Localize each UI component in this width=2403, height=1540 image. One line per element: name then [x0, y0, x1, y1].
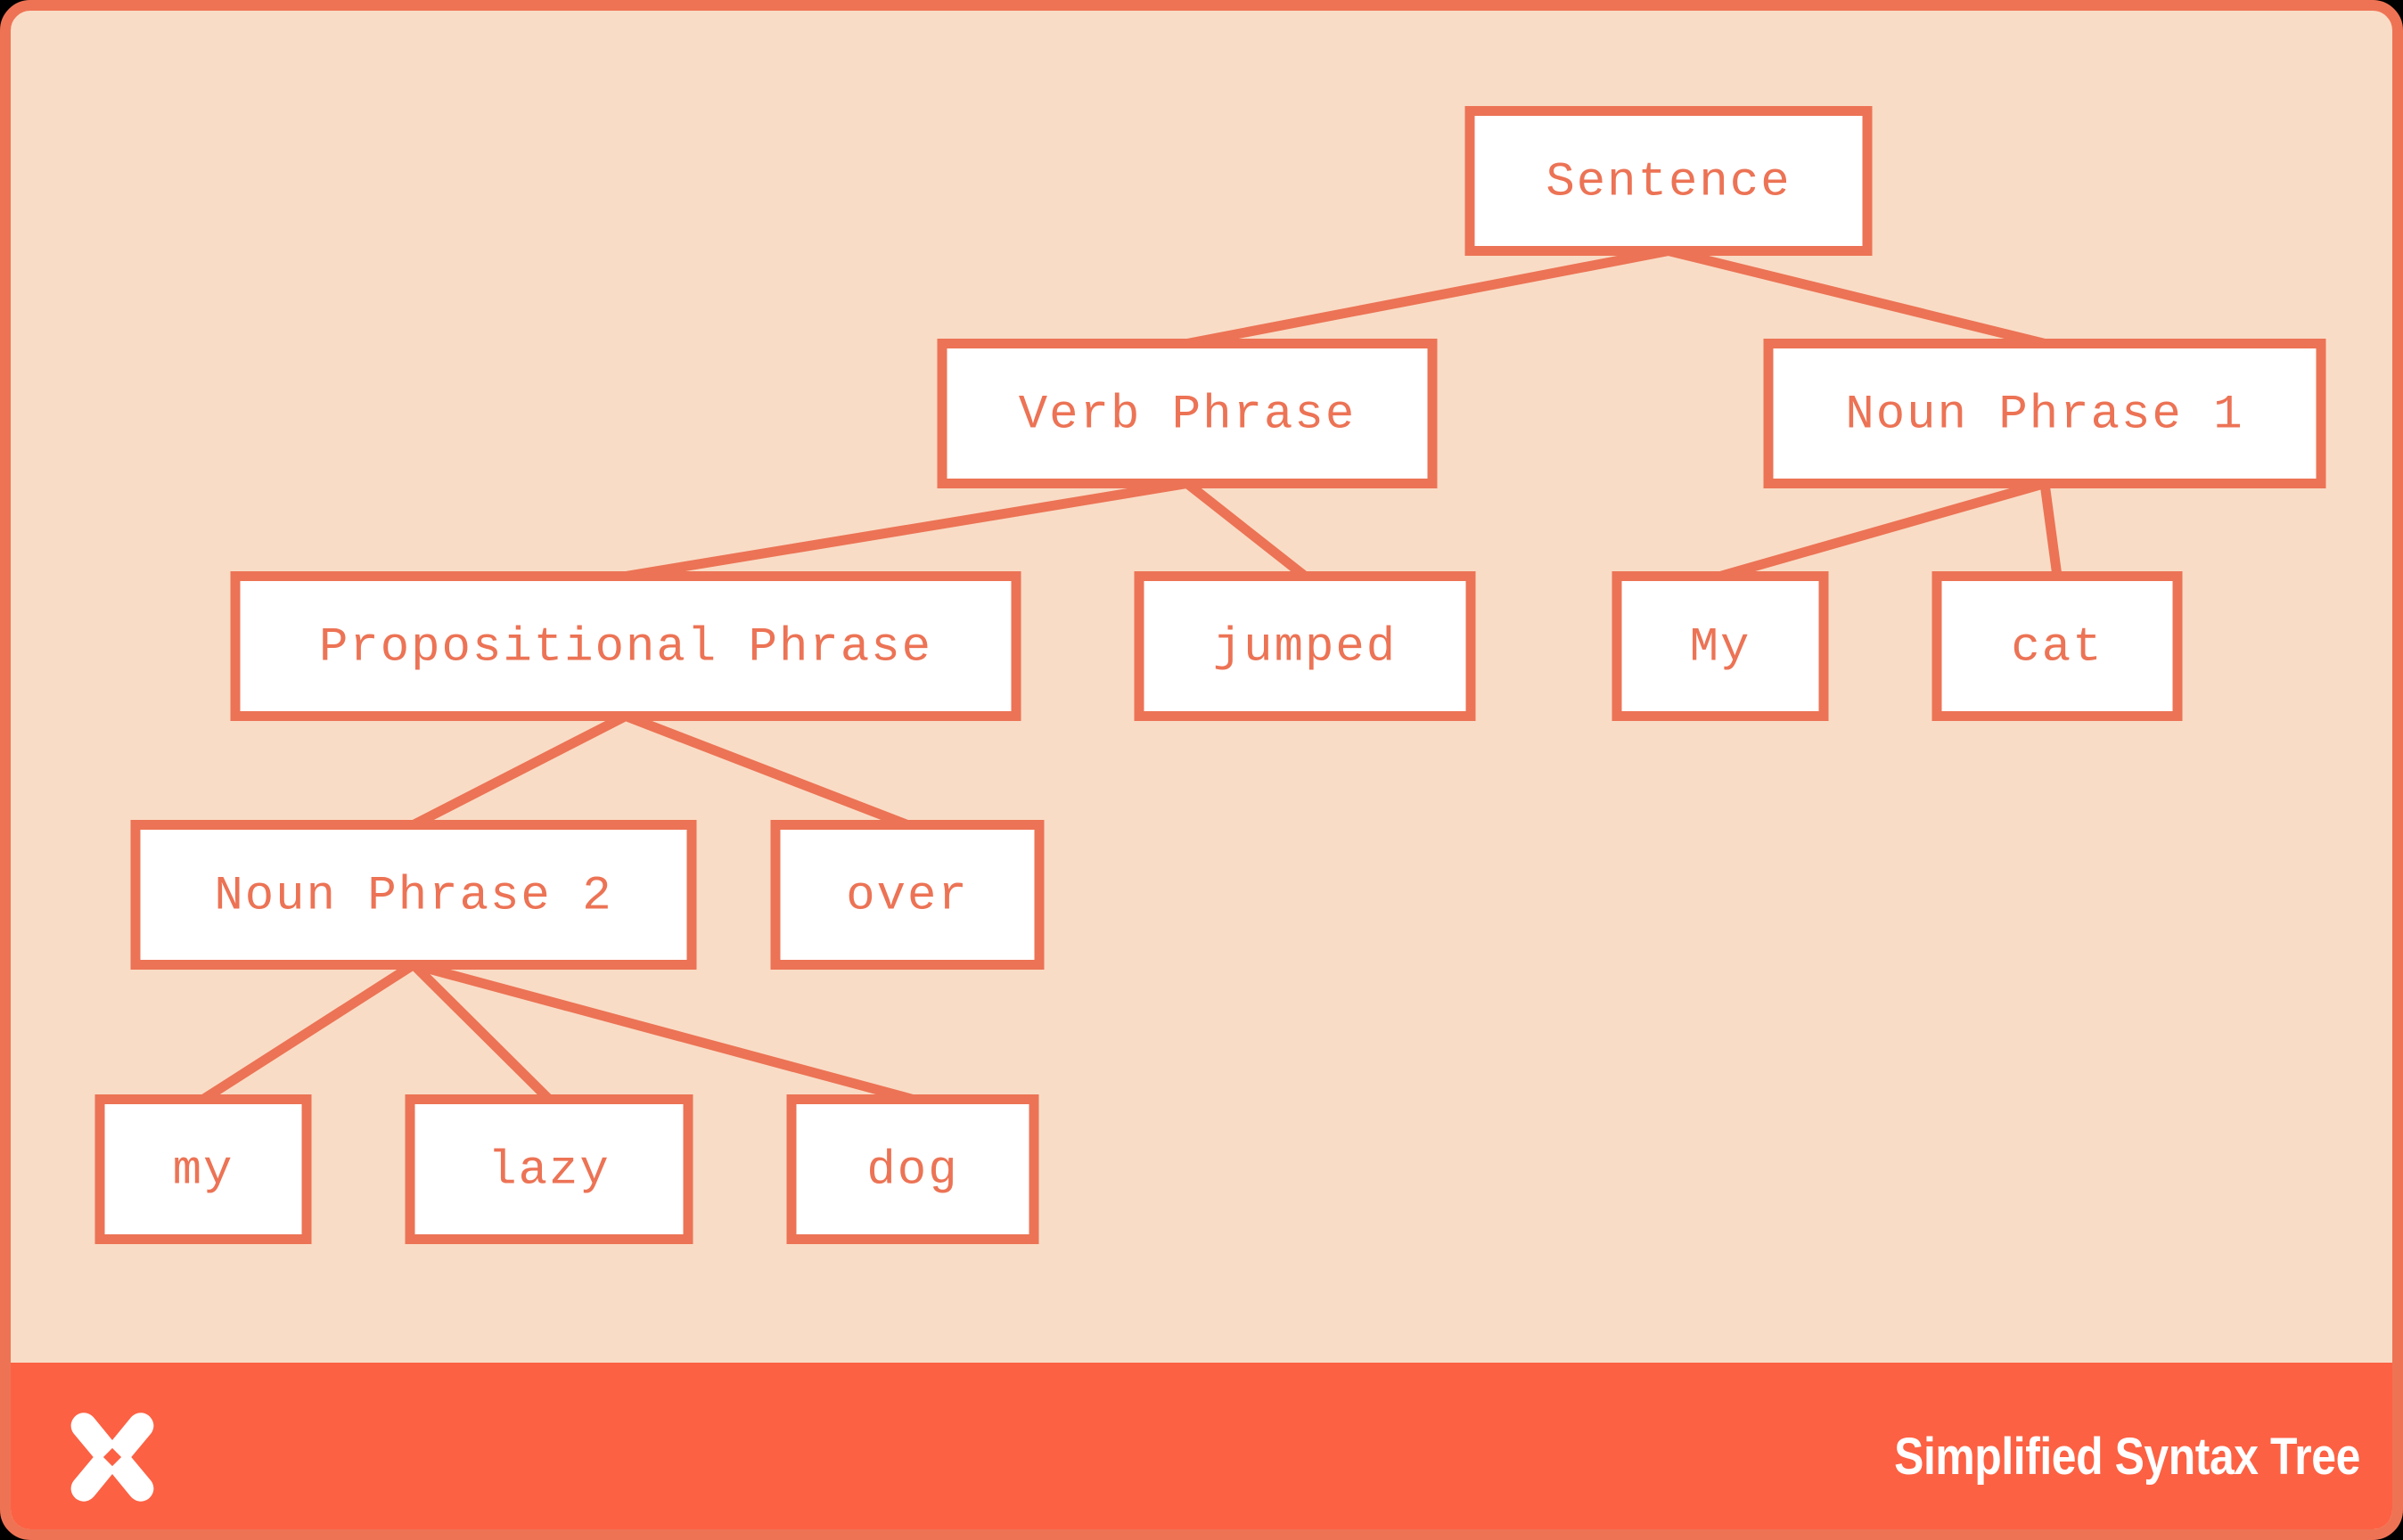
tree-edge — [1720, 484, 2045, 577]
diagram-card: SentenceVerb PhraseNoun Phrase 1Proposit… — [0, 0, 2403, 1540]
tree-node-label: Propositional Phrase — [319, 621, 932, 676]
tree-node-pp[interactable]: Propositional Phrase — [235, 577, 1016, 717]
tree-edge — [1187, 251, 1669, 344]
tree-node-label: Sentence — [1546, 156, 1791, 210]
tree-node-sentence[interactable]: Sentence — [1470, 111, 1867, 251]
tree-edge — [1187, 484, 1305, 577]
tree-node-dog[interactable]: dog — [791, 1100, 1034, 1240]
tree-node-label: Noun Phrase 1 — [1845, 389, 2243, 443]
tree-node-np1[interactable]: Noun Phrase 1 — [1768, 344, 2321, 484]
tree-node-label: my — [173, 1144, 234, 1199]
tree-node-np2[interactable]: Noun Phrase 2 — [135, 825, 692, 965]
syntax-tree-graphic: SentenceVerb PhraseNoun Phrase 1Proposit… — [11, 11, 2403, 1365]
tree-node-label: dog — [866, 1144, 958, 1199]
tree-edge — [414, 965, 913, 1100]
tree-node-vp[interactable]: Verb Phrase — [942, 344, 1432, 484]
nodes-layer: SentenceVerb PhraseNoun Phrase 1Proposit… — [100, 111, 2321, 1240]
tree-node-cat[interactable]: cat — [1937, 577, 2177, 717]
tree-node-label: My — [1690, 621, 1751, 676]
tree-node-lazy[interactable]: lazy — [410, 1100, 688, 1240]
tree-node-label: cat — [2011, 621, 2103, 676]
footer-title: Simplified Syntax Tree — [1894, 1427, 2360, 1487]
tree-node-label: lazy — [488, 1144, 611, 1199]
tree-edge — [203, 965, 414, 1100]
tree-edge — [626, 717, 907, 825]
tree-edge — [2045, 484, 2057, 577]
tree-node-label: jumped — [1213, 621, 1397, 676]
tree-edge — [414, 717, 626, 825]
tree-node-jumped[interactable]: jumped — [1139, 577, 1471, 717]
tree-edge — [1669, 251, 2045, 344]
x-star-logo-icon — [62, 1407, 162, 1507]
tree-node-label: Noun Phrase 2 — [214, 870, 612, 924]
tree-node-label: over — [846, 870, 969, 924]
syntax-tree-canvas: SentenceVerb PhraseNoun Phrase 1Proposit… — [0, 0, 2403, 1540]
tree-edge — [626, 484, 1187, 577]
tree-node-over[interactable]: over — [775, 825, 1039, 965]
footer-bar: Simplified Syntax Tree — [11, 1363, 2403, 1540]
tree-node-my-cap[interactable]: My — [1617, 577, 1824, 717]
tree-node-my[interactable]: my — [100, 1100, 307, 1240]
tree-node-label: Verb Phrase — [1019, 389, 1356, 443]
